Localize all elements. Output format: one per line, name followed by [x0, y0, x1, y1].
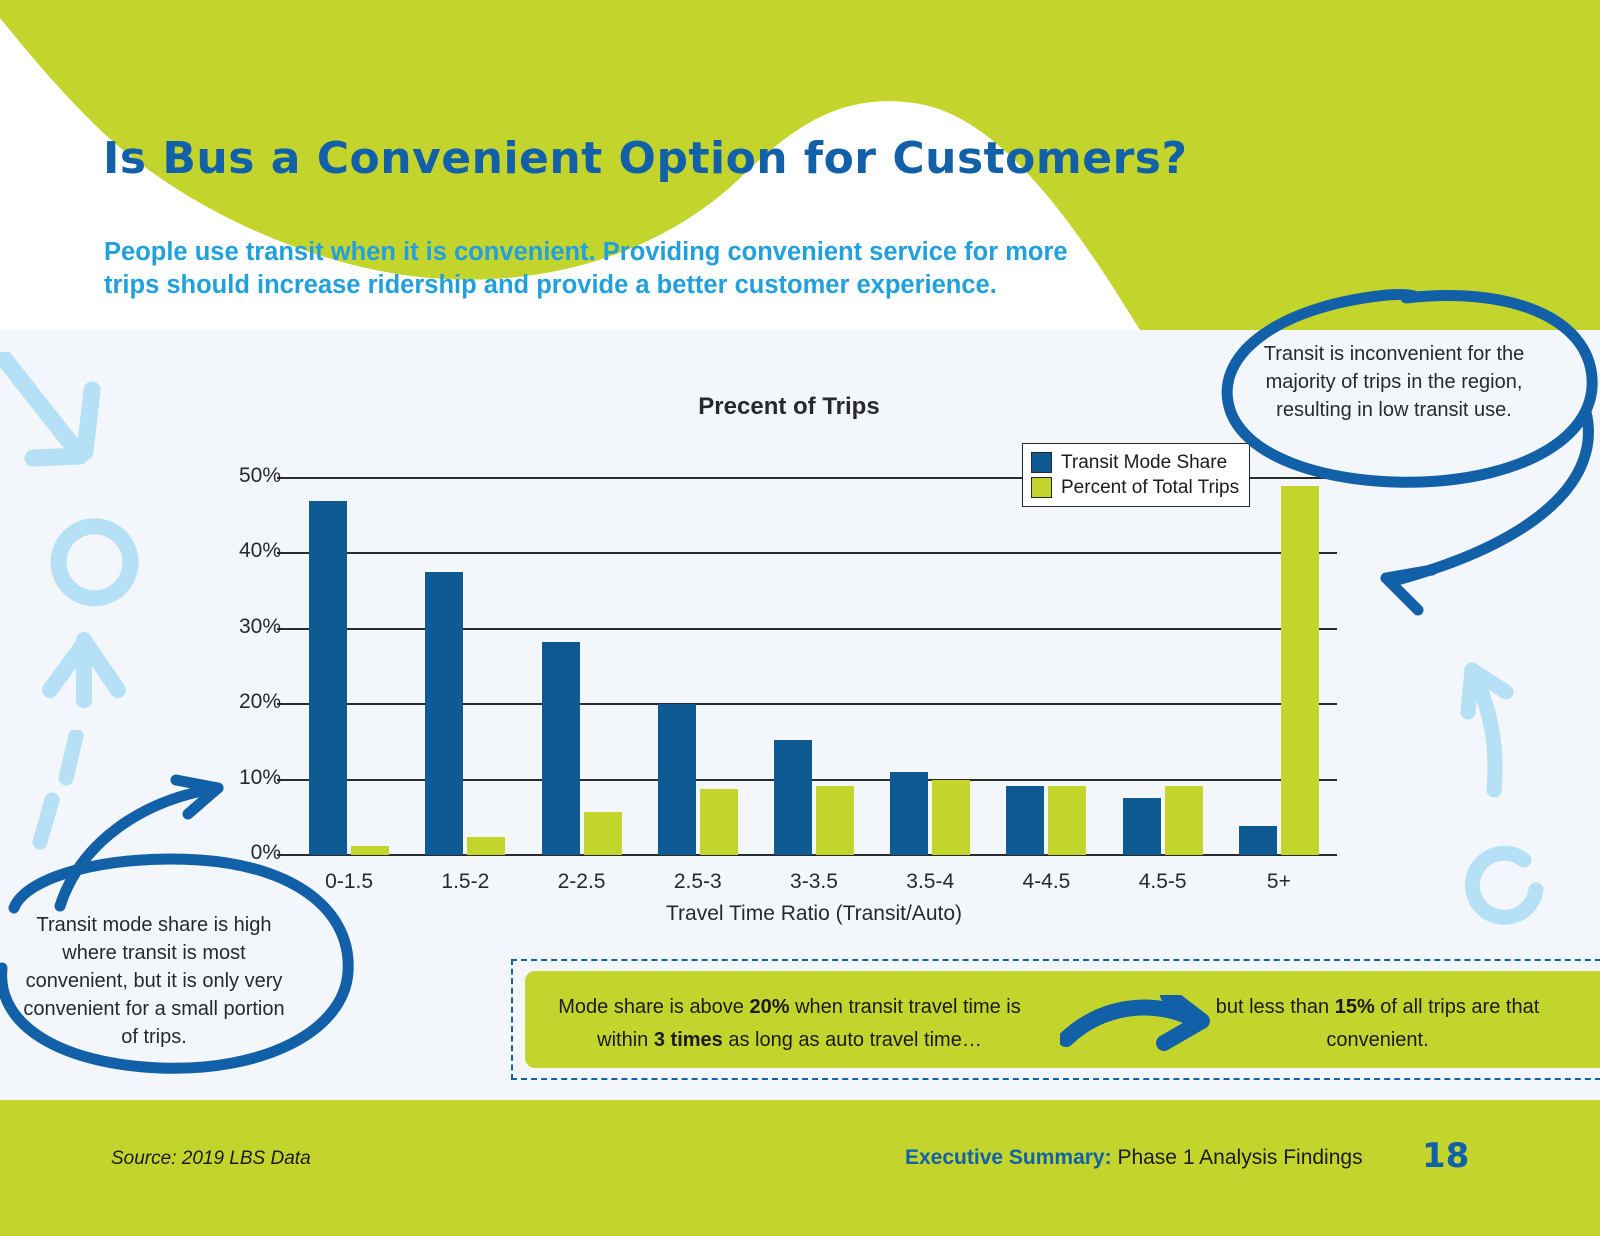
x-axis-title: Travel Time Ratio (Transit/Auto) [291, 902, 1337, 926]
y-axis-tick-label: 30% [211, 615, 281, 639]
x-axis-tick-label: 3-3.5 [756, 870, 872, 894]
chart-plot-area: 50%40%30%20%10%0%0-1.51.5-22-2.52.5-33-3… [291, 478, 1337, 855]
x-axis-tick-label: 2.5-3 [640, 870, 756, 894]
chart-bar [816, 786, 854, 855]
chart-bar [425, 572, 463, 855]
legend-item-percent-of-total-trips: Percent of Total Trips [1031, 475, 1239, 500]
x-axis-tick-label: 4.5-5 [1105, 870, 1221, 894]
x-axis-tick-label: 1.5-2 [407, 870, 523, 894]
chart-bar [1048, 786, 1086, 855]
page-subtitle: People use transit when it is convenient… [104, 236, 1114, 302]
legend-label-transit-mode-share: Transit Mode Share [1061, 452, 1227, 474]
chart-bar [890, 772, 928, 855]
legend-swatch-green-icon [1031, 477, 1052, 498]
x-axis-tick-label: 4-4.5 [988, 870, 1104, 894]
left-callout-text: Transit mode share is high where transit… [22, 911, 286, 1051]
footer-section-label: Executive Summary: Phase 1 Analysis Find… [905, 1146, 1363, 1170]
footer-source: Source: 2019 LBS Data [111, 1148, 311, 1170]
chart-bar [774, 740, 812, 855]
chart-gridline [291, 552, 1337, 554]
chart-bar [1165, 786, 1203, 855]
chart-bar [1006, 786, 1044, 855]
page-title: Is Bus a Convenient Option for Customers… [103, 133, 1188, 184]
x-axis-tick-label: 5+ [1221, 870, 1337, 894]
right-callout-bubble [1210, 282, 1600, 632]
takeaway-right-text: but less than 15% of all trips are that … [1190, 991, 1565, 1057]
page-number: 18 [1422, 1136, 1469, 1176]
legend-swatch-blue-icon [1031, 452, 1052, 473]
y-axis-tick-label: 40% [211, 539, 281, 563]
x-axis-tick-label: 2-2.5 [523, 870, 639, 894]
y-axis-tick-label: 50% [211, 464, 281, 488]
legend-item-transit-mode-share: Transit Mode Share [1031, 450, 1239, 475]
chart-bar [932, 780, 970, 855]
header: Is Bus a Convenient Option for Customers… [0, 0, 1600, 330]
x-axis-tick-label: 3.5-4 [872, 870, 988, 894]
right-callout-text: Transit is inconvenient for the majority… [1263, 340, 1525, 424]
chart-bar [658, 704, 696, 855]
takeaway-left-text: Mode share is above 20% when transit tra… [532, 991, 1047, 1057]
chart-bar [584, 812, 622, 855]
y-axis-tick-label: 20% [211, 690, 281, 714]
chart-bar [700, 789, 738, 855]
chart-bar [1123, 798, 1161, 855]
chart-bar [542, 642, 580, 855]
chart-bar [1239, 826, 1277, 855]
chart-bar [467, 837, 505, 855]
